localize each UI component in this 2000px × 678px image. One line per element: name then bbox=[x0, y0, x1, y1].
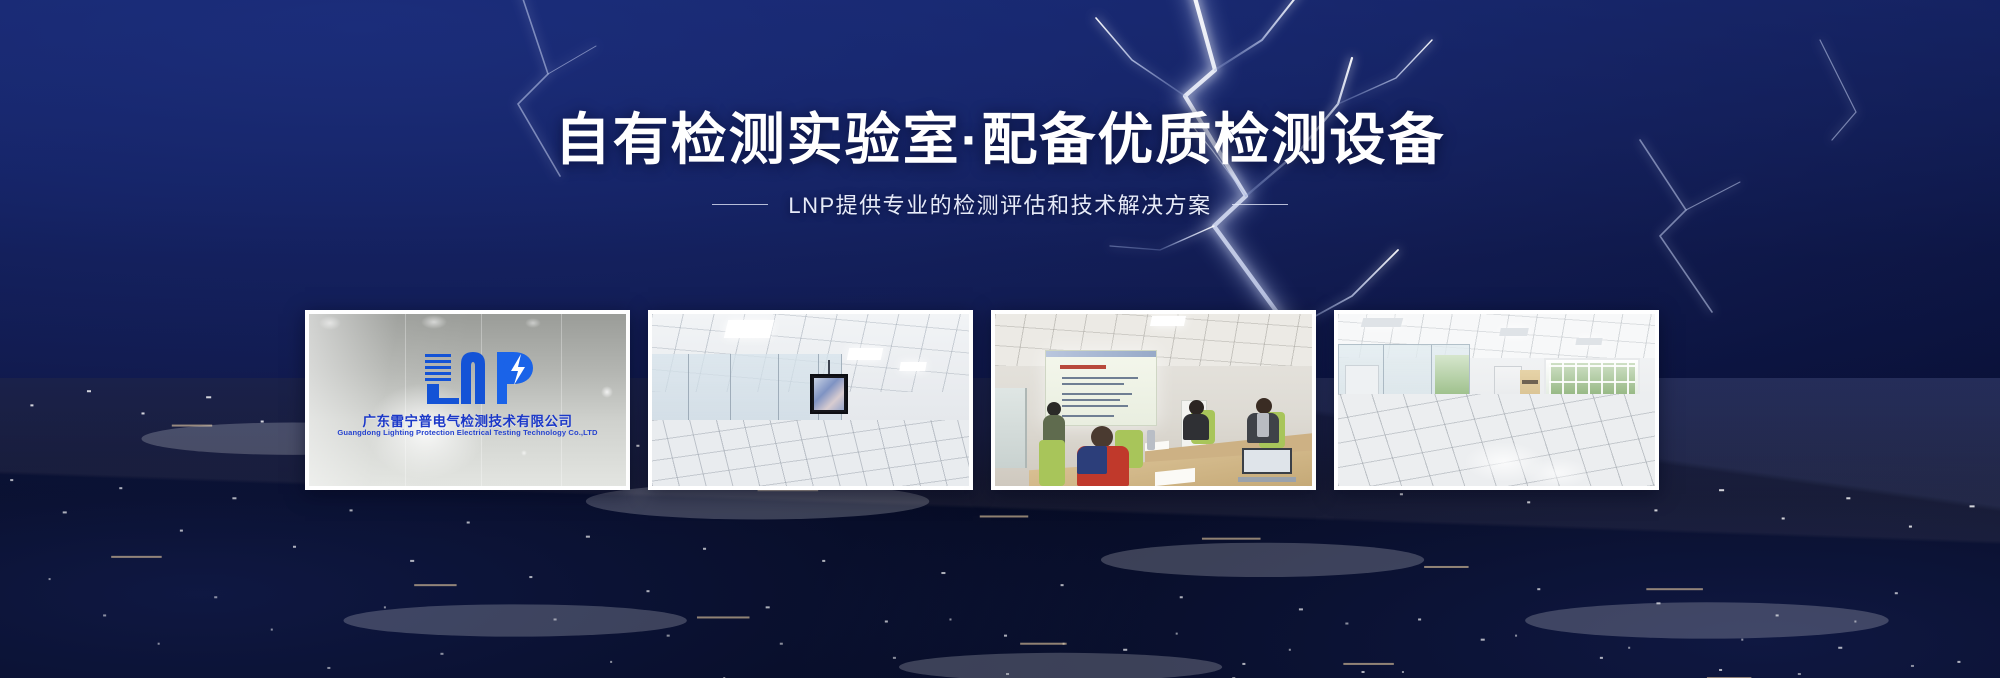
gallery-photo-hv-lab[interactable] bbox=[648, 310, 973, 490]
attendee-figure-red-icon bbox=[1073, 426, 1135, 486]
page-subtitle: LNP提供专业的检测评估和技术解决方案 bbox=[788, 188, 1211, 220]
wall-monitor-icon bbox=[810, 374, 848, 414]
wall-sign-chinese: 广东雷宁普电气检测技术有限公司 bbox=[317, 410, 618, 430]
lnp-logo-icon bbox=[425, 348, 545, 404]
rule-left-icon bbox=[712, 204, 768, 205]
photo-gallery: 广东雷宁普电气检测技术有限公司 Guangdong Lighting Prote… bbox=[305, 310, 1659, 490]
gallery-photo-meeting-room[interactable] bbox=[991, 310, 1316, 490]
attendee-figure-left-icon bbox=[1181, 400, 1211, 444]
wall-sign-english: Guangdong Lighting Protection Electrical… bbox=[313, 428, 622, 437]
banner-slide: 自有检测实验室·配备优质检测设备 LNP提供专业的检测评估和技术解决方案 bbox=[0, 0, 2000, 678]
subtitle-row: LNP提供专业的检测评估和技术解决方案 bbox=[0, 188, 2000, 220]
rule-right-icon bbox=[1232, 204, 1288, 205]
attendee-figure-right-icon bbox=[1247, 398, 1281, 446]
gallery-photo-logo-wall[interactable]: 广东雷宁普电气检测技术有限公司 Guangdong Lighting Prote… bbox=[305, 310, 630, 490]
gallery-photo-office[interactable] bbox=[1334, 310, 1659, 490]
headline-block: 自有检测实验室·配备优质检测设备 LNP提供专业的检测评估和技术解决方案 bbox=[0, 108, 2000, 220]
laptop-icon bbox=[1238, 448, 1294, 482]
page-title: 自有检测实验室·配备优质检测设备 bbox=[0, 108, 2000, 172]
